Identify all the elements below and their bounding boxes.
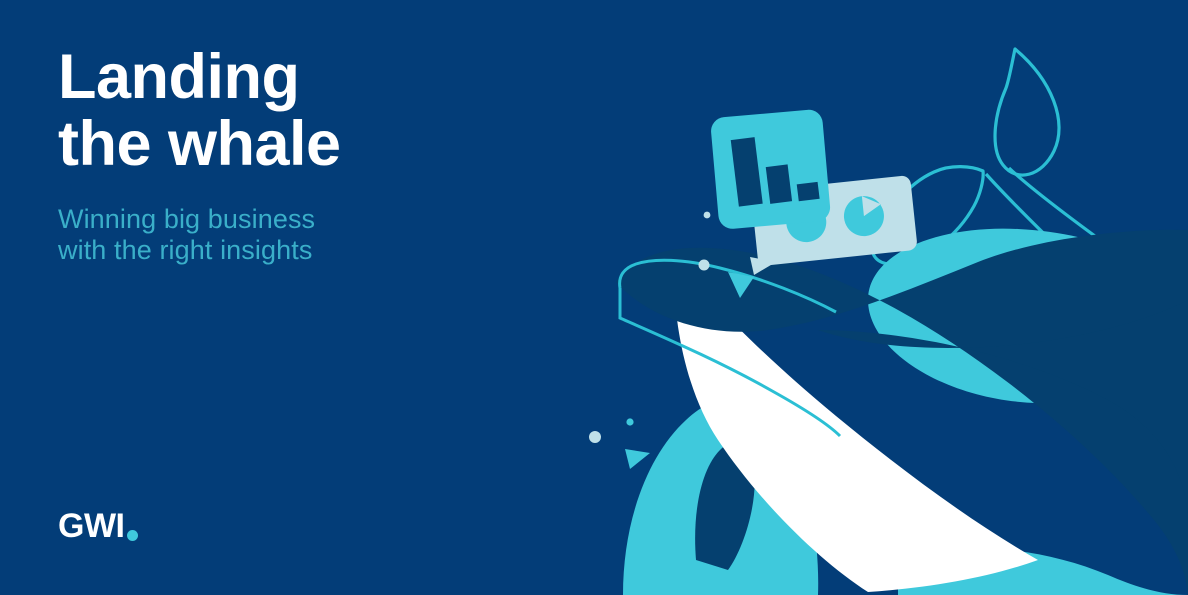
whale-belly-white [674,258,1038,592]
bubble-dot-mid [699,260,710,271]
whale-body-cyan [868,229,1187,403]
whale-illustration [568,0,1188,595]
pie-shape-right [842,194,886,238]
bar-1 [731,137,763,206]
pie-shape-left [784,200,828,244]
gwi-logo[interactable]: GWI [58,509,138,543]
shard-triangle-pale [750,257,776,275]
whale-fin-outline-lower [620,288,840,436]
whale-lower-jaw-cyan [623,397,818,595]
whale-fin-outline [620,260,836,312]
page-title: Landing the whale [58,44,578,178]
bar-3 [797,182,820,201]
whale-midbody-navy [818,300,1188,520]
gwi-wordmark: GWI [58,509,124,543]
bubble-dot-small [626,418,633,425]
title-text-block: Landing the whale Winning big business w… [58,44,578,267]
title-slide: Landing the whale Winning big business w… [0,0,1188,595]
shard-triangle-cyan [728,272,754,298]
whale-jaw-notch-navy [695,442,755,570]
bar-chart-card [710,109,831,230]
page-subtitle: Winning big business with the right insi… [58,204,578,268]
whale-tailfin-cyan-bottom [898,548,1188,595]
bar-2 [766,164,792,203]
pie-chart-card [751,175,918,266]
whale-eye [729,338,738,347]
whale-tail-outline [872,49,1188,372]
gwi-logo-dot-icon [127,530,138,541]
whale-head-navy [616,230,1188,595]
bubble-dot-large [589,431,601,443]
shard-triangle-cyan-small [625,449,650,469]
bubble-dot-tiny [704,212,711,219]
